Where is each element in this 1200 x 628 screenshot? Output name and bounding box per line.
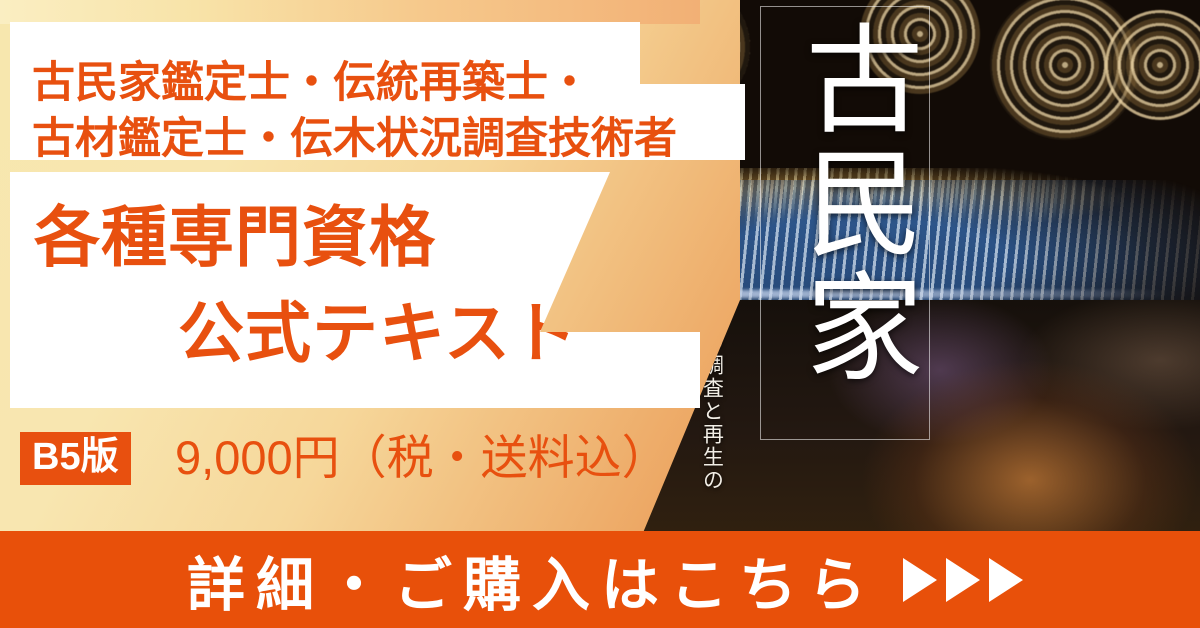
cta-bar[interactable]: 詳細・ご購入はこちら [0,531,1200,628]
book-title: 古民家 [772,18,918,390]
format-badge: B5版 [20,432,131,485]
cta-label: 詳細・ご購入はこちら [177,538,877,622]
main-title-line-2: 公式テキスト [178,300,578,366]
promo-banner: 伝統構法 古民家活用のための調査と再生の 古民家 古民家鑑定士・伝統再築士・ 古… [0,0,1200,628]
main-title-line-1: 各種専門資格 [34,204,436,270]
headline-panel: 古民家鑑定士・伝統再築士・ 古材鑑定士・伝木状況調査技術者 [10,22,745,160]
price-text: 9,000円（税・送料込） [175,434,669,481]
triple-arrow-icon [903,558,1023,602]
headline-line-2: 古材鑑定士・伝木状況調査技術者 [32,118,677,161]
cream-top-strip [0,0,700,24]
headline-line-1: 古民家鑑定士・伝統再築士・ [32,62,591,105]
